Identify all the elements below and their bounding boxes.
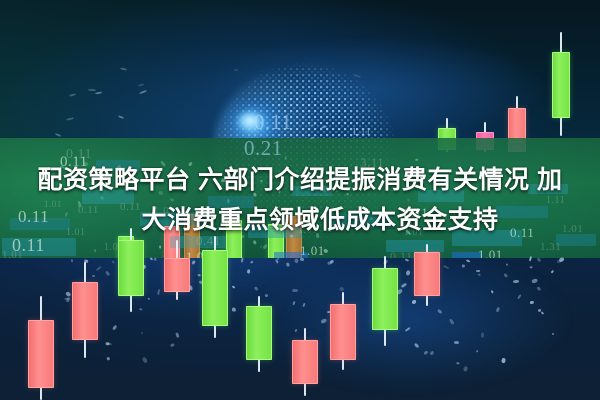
candlestick	[246, 296, 272, 372]
light-streak	[88, 88, 96, 91]
headline-line-1: 配资策略平台 六部门介绍提振消费有关情况 加	[0, 160, 600, 200]
numeric-label: 0.11	[254, 112, 292, 133]
candlestick	[28, 296, 54, 400]
bokeh-speck	[286, 262, 290, 266]
bokeh-speck	[454, 340, 459, 343]
candlestick	[72, 262, 98, 358]
candle-body	[552, 52, 570, 118]
candle-body	[372, 268, 398, 330]
candlestick	[330, 292, 356, 370]
candle-body	[164, 258, 190, 292]
candlestick	[164, 240, 190, 300]
candle-body	[118, 240, 144, 296]
candle-body	[246, 306, 272, 360]
candlestick	[414, 244, 440, 306]
bokeh-speck	[232, 307, 236, 312]
news-thumbnail-image: 0.110.211.113.110.111.010.111.010.111.01…	[0, 0, 600, 400]
candle-body	[414, 252, 440, 296]
candlestick	[118, 228, 144, 312]
candle-body	[28, 320, 54, 388]
bokeh-speck	[476, 270, 480, 272]
candlestick	[372, 256, 398, 346]
numeric-label: 1.11	[352, 128, 371, 138]
light-streak	[234, 68, 238, 71]
numeric-label: 0.21	[244, 138, 283, 159]
headline-line-2: 大消费重点领域低成本资金支持	[0, 200, 600, 240]
candle-body	[508, 108, 526, 142]
bokeh-speck	[456, 362, 459, 365]
candlestick	[202, 236, 228, 338]
headline-text: 配资策略平台 六部门介绍提振消费有关情况 加 大消费重点领域低成本资金支持	[0, 160, 600, 240]
candle-body	[202, 250, 228, 326]
candlestick	[552, 32, 570, 136]
bokeh-speck	[323, 248, 328, 253]
candle-body	[72, 282, 98, 340]
candle-body	[292, 340, 318, 384]
candlestick	[292, 328, 318, 396]
candle-body	[330, 304, 356, 360]
